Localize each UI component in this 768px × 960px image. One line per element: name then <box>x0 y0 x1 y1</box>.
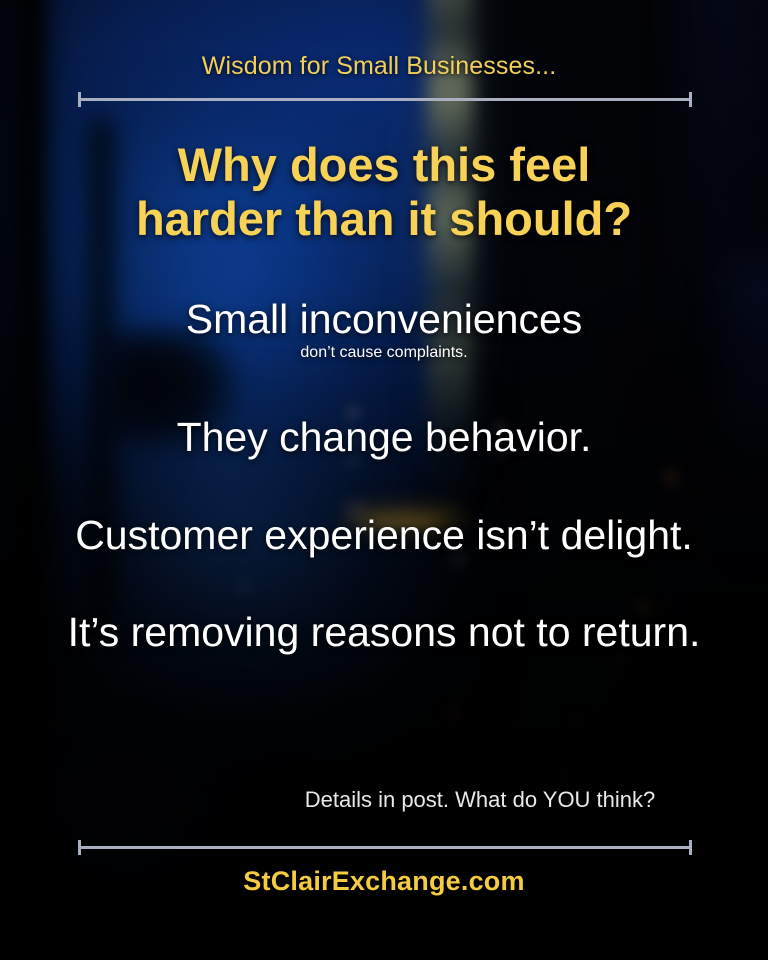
body-line-4: Customer experience isn’t delight. <box>0 512 768 560</box>
divider-bar <box>78 98 692 101</box>
call-to-action-text: Details in post. What do YOU think? <box>0 787 768 813</box>
poster-content: Wisdom for Small Businesses... Why does … <box>0 0 768 960</box>
website-url[interactable]: StClairExchange.com <box>0 866 768 897</box>
body-copy: Small inconveniences don’t cause complai… <box>0 296 768 657</box>
eyebrow-text: Wisdom for Small Businesses... <box>0 52 768 81</box>
headline-line-2: harder than it should? <box>0 192 768 246</box>
social-quote-poster: Wisdom for Small Businesses... Why does … <box>0 0 768 960</box>
body-line-5: It’s removing reasons not to return. <box>0 609 768 657</box>
body-line-1: Small inconveniences <box>0 296 768 344</box>
headline-line-1: Why does this feel <box>0 138 768 192</box>
divider-bar <box>78 846 692 849</box>
divider-cap-right <box>689 840 692 855</box>
divider-rule-top <box>78 92 692 106</box>
body-line-3: They change behavior. <box>0 414 768 462</box>
divider-cap-right <box>689 92 692 107</box>
body-line-2: don’t cause complaints. <box>0 344 768 363</box>
divider-rule-bottom <box>78 840 692 854</box>
headline: Why does this feel harder than it should… <box>0 138 768 245</box>
